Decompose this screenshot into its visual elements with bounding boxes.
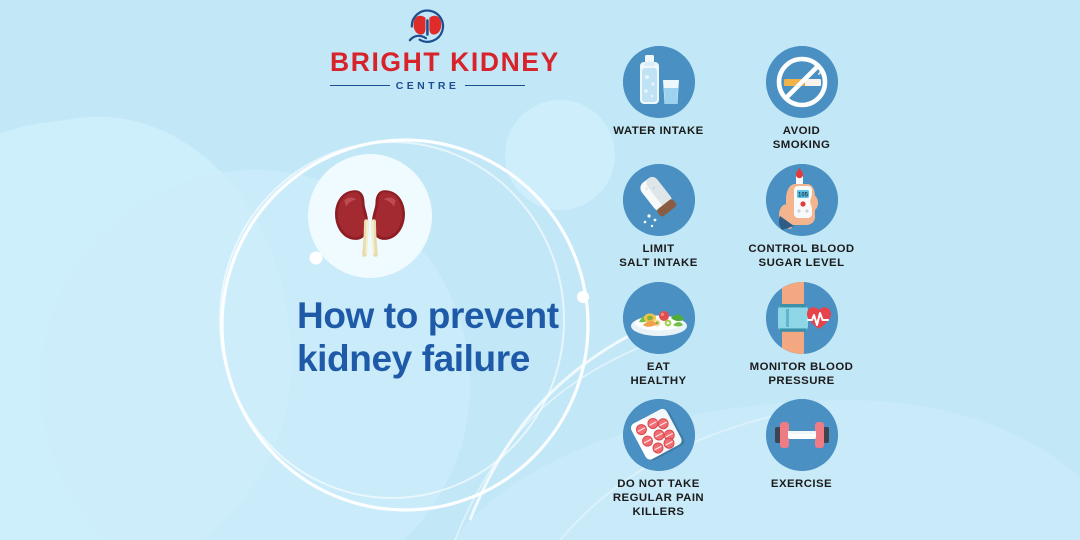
tip-label: EAT HEALTHY	[596, 361, 721, 389]
tip-label: MONITOR BLOOD PRESSURE	[739, 361, 864, 389]
tip-do-not-take-pain-killers[interactable]: DO NOT TAKE REGULAR PAIN KILLERS	[596, 399, 721, 520]
tip-water-intake[interactable]: WATER INTAKE	[596, 46, 721, 153]
tip-exercise[interactable]: EXERCISE	[739, 399, 864, 520]
logo-rule-right	[465, 85, 525, 87]
tip-limit-salt-intake[interactable]: LIMIT SALT INTAKE	[596, 164, 721, 271]
glucometer-reading: 105	[797, 192, 808, 198]
tip-label: WATER INTAKE	[596, 125, 721, 139]
kidneys-illustration	[308, 154, 432, 278]
logo-rule-left	[330, 85, 390, 87]
tip-avoid-smoking[interactable]: AVOID SMOKING	[739, 46, 864, 153]
tip-monitor-blood-pressure[interactable]: MONITOR BLOOD PRESSURE	[739, 282, 864, 389]
no-smoking-icon	[766, 46, 838, 118]
tip-label: DO NOT TAKE REGULAR PAIN KILLERS	[596, 478, 721, 520]
tip-label: LIMIT SALT INTAKE	[596, 243, 721, 271]
tip-label: CONTROL BLOOD SUGAR LEVEL	[739, 243, 864, 271]
salt-shaker-icon	[623, 164, 695, 236]
brand-sub-text: CENTRE	[396, 80, 460, 92]
salad-plate-icon	[623, 282, 695, 354]
kidney-logo-icon	[403, 6, 452, 48]
glucometer-hand-icon: 105	[766, 164, 838, 236]
tip-label: AVOID SMOKING	[739, 125, 864, 153]
tip-eat-healthy[interactable]: EAT HEALTHY	[596, 282, 721, 389]
tip-label: EXERCISE	[739, 478, 864, 492]
prevention-tips-grid: WATER INTAKE AVOID SMOKING	[596, 46, 864, 520]
tip-control-blood-sugar[interactable]: 105 CONTROL BLOOD SUGAR LEVEL	[739, 164, 864, 271]
dumbbell-icon	[766, 399, 838, 471]
brand-logo[interactable]: BRIGHT KIDNEY CENTRE	[330, 6, 525, 92]
water-bottle-glass-icon	[623, 46, 695, 118]
background-decoration	[0, 0, 1080, 540]
page-title: How to prevent kidney failure	[297, 294, 617, 381]
pill-blister-icon	[623, 399, 695, 471]
bp-cuff-heart-icon	[766, 282, 838, 354]
brand-name: BRIGHT KIDNEY	[330, 49, 525, 76]
brand-subtitle: CENTRE	[330, 80, 525, 92]
orbit-rings	[0, 0, 1080, 540]
